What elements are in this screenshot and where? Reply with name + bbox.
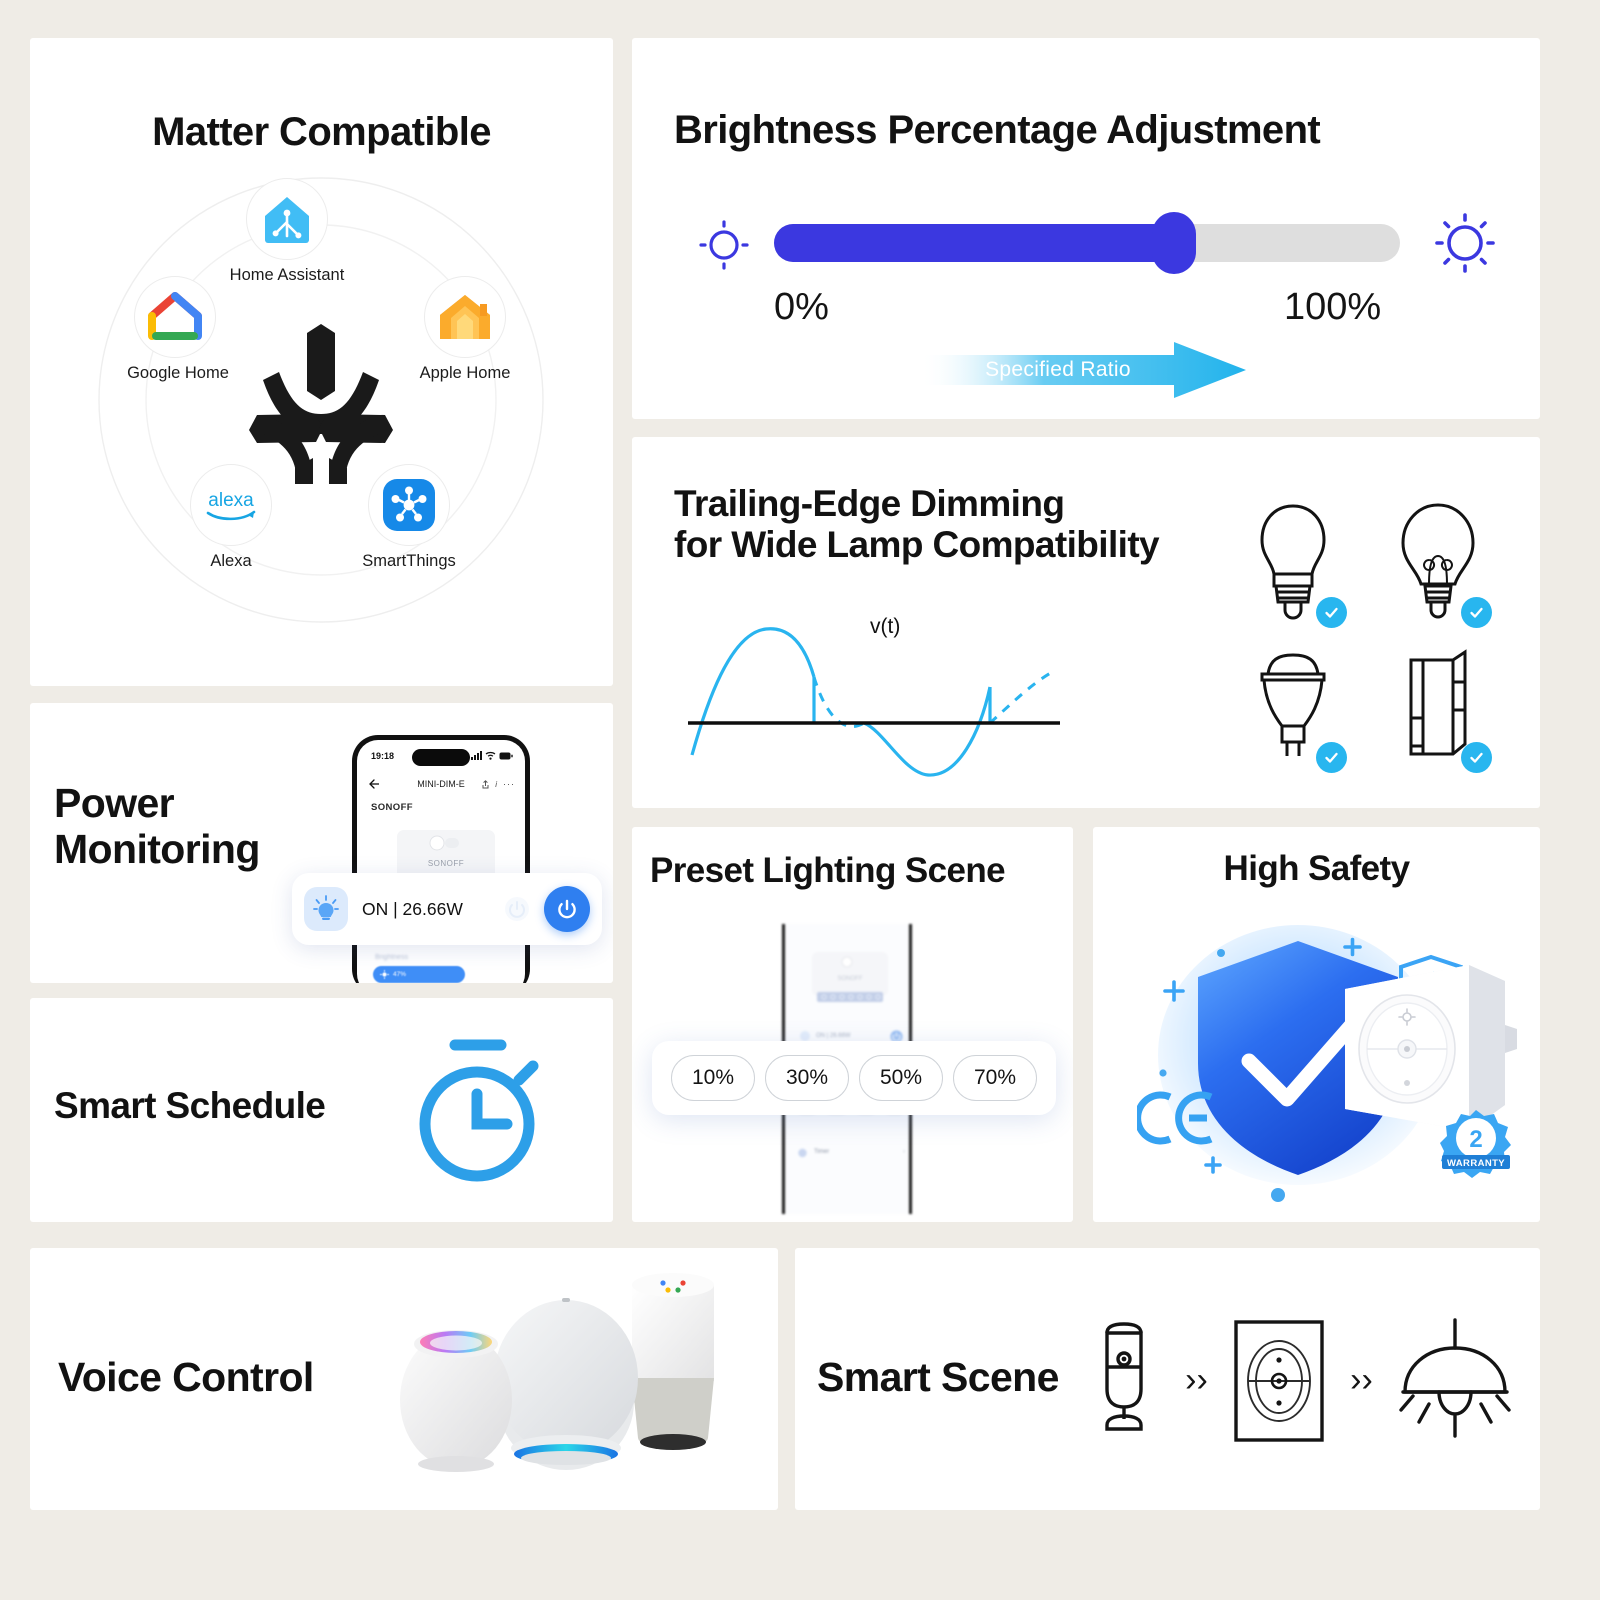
compatible-lamp-grid	[1220, 489, 1510, 779]
platform-node-smartthings[interactable]	[368, 464, 450, 546]
svg-text:SONOFF: SONOFF	[838, 976, 863, 982]
power-status-pill[interactable]: ON | 26.66W	[292, 873, 602, 945]
platform-label-smartthings: SmartThings	[309, 552, 509, 571]
flow-separator-2: ››	[1350, 1361, 1373, 1400]
lamp-led-bulb	[1220, 489, 1365, 634]
motion-sensor-icon	[1085, 1319, 1163, 1443]
phone-device-name: MINI-DIM-E	[417, 779, 465, 789]
card-smart-schedule: Smart Schedule	[30, 998, 613, 1222]
svg-text:SONOFF: SONOFF	[428, 859, 464, 868]
power-status-text: ON | 26.66W	[362, 899, 463, 920]
platform-label-google-home: Google Home	[78, 364, 278, 383]
matter-platform-ring: Home Assistant Apple Home	[86, 168, 556, 638]
platform-node-apple-home[interactable]	[424, 276, 506, 358]
homepod-mini-icon	[400, 1330, 512, 1472]
infographic-root: Matter Compatible	[0, 0, 1600, 1600]
phone-status-time: 19:18	[371, 751, 394, 761]
voice-title: Voice Control	[58, 1355, 314, 1401]
scene-title: Smart Scene	[817, 1355, 1059, 1401]
ce-mark-icon	[1137, 1087, 1217, 1149]
trailing-title-line1: Trailing-Edge Dimming	[674, 483, 1159, 524]
preview-timer-row: Timer ›	[797, 1142, 905, 1162]
smart-speaker-group	[370, 1270, 760, 1500]
share-icon[interactable]	[482, 780, 489, 789]
card-high-safety: High Safety	[1093, 827, 1540, 1222]
phone-brightness-value: 47%	[393, 971, 406, 978]
card-voice-control: Voice Control	[30, 1248, 778, 1510]
preset-chip-bar: 10% 30% 50% 70%	[652, 1041, 1056, 1115]
card-preset-lighting-scene: Preset Lighting Scene SONOFF ON | 26.66W	[632, 827, 1073, 1222]
phone-navbar: MINI-DIM-E i ···	[357, 773, 525, 795]
preset-chip-10[interactable]: 10%	[671, 1055, 755, 1101]
phone-brightness-label: Brightness	[375, 954, 408, 961]
safety-artwork: 2 WARRANTY	[1113, 905, 1523, 1205]
matter-logo	[241, 318, 401, 488]
platform-label-alexa: Alexa	[131, 552, 331, 571]
card-brightness-adjustment: Brightness Percentage Adjustment	[632, 38, 1540, 419]
power-title-line2: Monitoring	[54, 827, 260, 873]
smart-scene-flow: ›› ››	[1085, 1298, 1515, 1463]
svg-text:alexa: alexa	[208, 490, 254, 511]
trailing-title-line2: for Wide Lamp Compatibility	[674, 524, 1159, 565]
flow-separator-1: ››	[1185, 1361, 1208, 1400]
alexa-icon: alexa	[200, 485, 262, 525]
apple-home-icon	[438, 292, 492, 342]
phone-screen: 19:18 MINI-DIM-E i ··· SONOFF	[357, 740, 525, 983]
phone-status-icons	[471, 751, 513, 760]
pendant-lamp-icon	[1395, 1318, 1515, 1444]
lamp-check-badge	[1316, 742, 1347, 773]
platform-node-alexa[interactable]: alexa	[190, 464, 272, 546]
wall-switch-icon	[1230, 1316, 1328, 1446]
sun-low-icon	[696, 214, 752, 276]
warranty-badge: 2 WARRANTY	[1439, 1107, 1513, 1181]
phone-mockup: 19:18 MINI-DIM-E i ··· SONOFF	[352, 735, 530, 983]
card-smart-scene: Smart Scene ››	[795, 1248, 1540, 1510]
battery-icon	[499, 752, 513, 760]
home-assistant-icon	[260, 192, 314, 246]
card-power-monitoring: Power Monitoring 19:18 MINI-DIM-E	[30, 703, 613, 983]
slider-track[interactable]	[774, 224, 1400, 262]
stopwatch-icon	[407, 1036, 547, 1186]
brightness-title: Brightness Percentage Adjustment	[674, 108, 1320, 153]
brightness-min-label: 0%	[774, 286, 829, 329]
bulb-icon	[304, 887, 348, 931]
specified-ratio-label: Specified Ratio	[920, 342, 1196, 398]
warranty-years: 2	[1469, 1126, 1482, 1153]
phone-brand-logo: SONOFF	[371, 802, 413, 813]
lamp-check-badge	[1461, 597, 1492, 628]
slider-knob[interactable]	[1152, 212, 1196, 274]
smartthings-icon	[382, 478, 436, 532]
power-title-line1: Power	[54, 781, 260, 827]
trailing-title: Trailing-Edge Dimming for Wide Lamp Comp…	[674, 483, 1159, 566]
info-icon[interactable]: i	[495, 780, 497, 789]
platform-node-home-assistant[interactable]	[246, 178, 328, 260]
schedule-title: Smart Schedule	[54, 1085, 325, 1126]
platform-label-home-assistant: Home Assistant	[187, 266, 387, 285]
platform-node-google-home[interactable]	[134, 276, 216, 358]
brightness-icon	[380, 970, 389, 979]
wifi-icon	[485, 751, 496, 760]
platform-label-apple-home: Apple Home	[365, 364, 565, 383]
brightness-max-label: 100%	[1284, 286, 1381, 329]
waveform-label: v(t)	[870, 615, 900, 639]
lamp-check-badge	[1461, 742, 1492, 773]
sun-high-icon	[1430, 207, 1500, 279]
lamp-gu10-spotlight	[1220, 634, 1365, 779]
power-title: Power Monitoring	[54, 781, 260, 873]
safety-title: High Safety	[1093, 849, 1540, 888]
matter-title: Matter Compatible	[30, 110, 613, 155]
preview-device-image: SONOFF	[809, 950, 891, 1008]
lamp-incandescent	[1365, 489, 1510, 634]
warranty-label: WARRANTY	[1447, 1158, 1505, 1169]
phone-notch	[412, 749, 470, 766]
preset-chip-70[interactable]: 70%	[953, 1055, 1037, 1101]
cellular-signal-icon	[471, 751, 482, 760]
brightness-slider[interactable]	[694, 206, 1494, 276]
card-trailing-edge-dimming: Trailing-Edge Dimming for Wide Lamp Comp…	[632, 437, 1540, 808]
back-arrow-icon[interactable]	[369, 779, 380, 789]
ghost-power-icon	[504, 896, 530, 922]
preset-chip-50[interactable]: 50%	[859, 1055, 943, 1101]
alarm-clock-icon	[797, 1147, 808, 1158]
specified-ratio-arrow: Specified Ratio	[920, 342, 1246, 398]
preset-chip-30[interactable]: 30%	[765, 1055, 849, 1101]
preset-title: Preset Lighting Scene	[650, 851, 1005, 890]
more-options-icon[interactable]: ···	[503, 779, 515, 789]
power-button-icon[interactable]	[544, 886, 590, 932]
card-matter-compatible: Matter Compatible	[30, 38, 613, 686]
lamp-led-driver	[1365, 634, 1510, 779]
echo-dot-icon	[494, 1298, 638, 1470]
preview-timer-label: Timer	[814, 1149, 829, 1155]
google-home-icon	[148, 292, 202, 342]
slider-fill	[774, 224, 1174, 262]
lamp-check-badge	[1316, 597, 1347, 628]
google-home-speaker-icon	[632, 1273, 714, 1450]
phone-brightness-slider[interactable]: 47%	[373, 966, 465, 983]
preview-status-text: ON | 26.66W	[816, 1033, 851, 1039]
